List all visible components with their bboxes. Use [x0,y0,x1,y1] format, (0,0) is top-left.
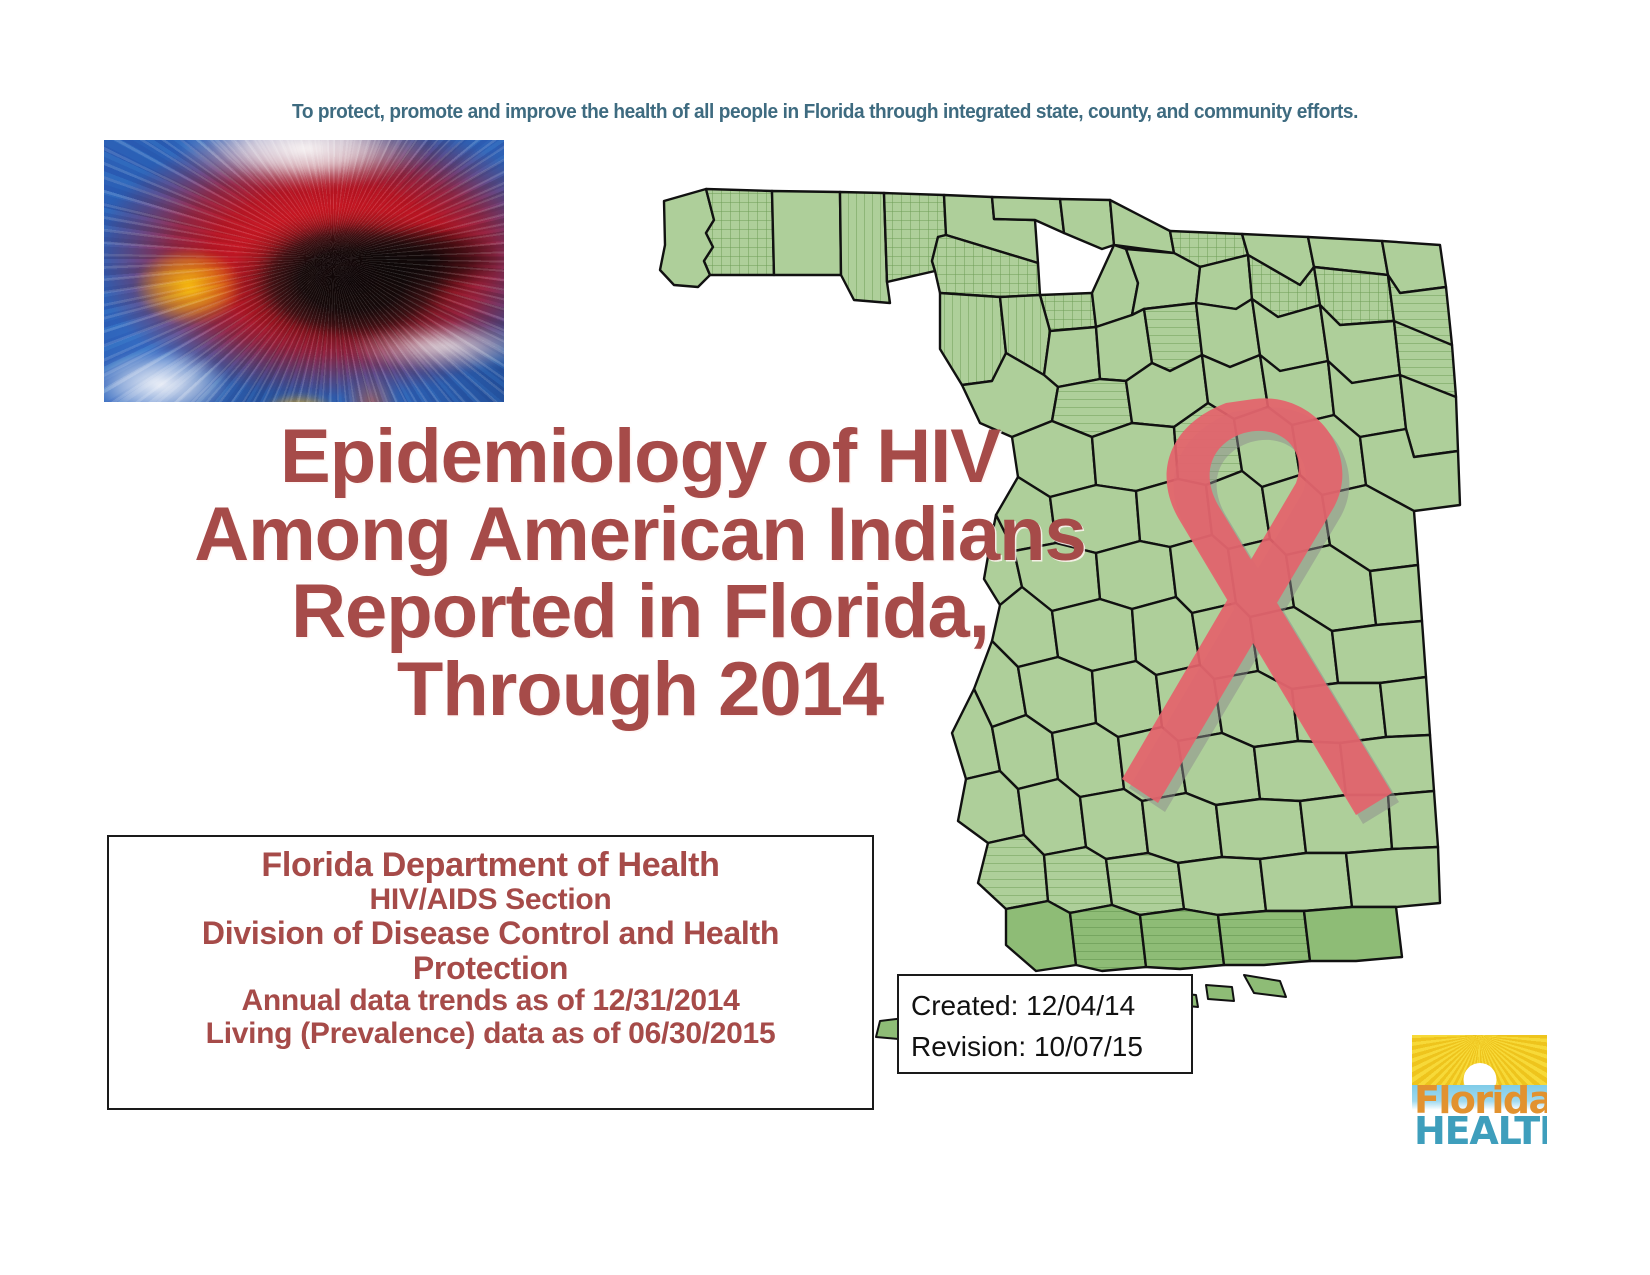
mission-statement: To protect, promote and improve the heal… [58,100,1593,124]
attribution-department: Florida Department of Health [109,847,872,884]
attribution-prevalence-data-date: Living (Prevalence) data as of 06/30/201… [109,1018,872,1050]
title-line-2: Among American Indians [120,496,1160,574]
native-american-regalia-feathers-photo [104,140,504,402]
logo-water-band: Florida HEALTH [1412,1085,1547,1158]
slide-canvas: To protect, promote and improve the heal… [0,0,1650,1275]
attribution-annual-data-date: Annual data trends as of 12/31/2014 [109,985,872,1017]
attribution-box: Florida Department of Health HIV/AIDS Se… [107,835,874,1110]
attribution-division-line2: Protection [109,951,872,986]
photo-layer-motion-streaks-highlight [104,140,504,402]
created-revision-box: Created: 12/04/14 Revision: 10/07/15 [897,974,1193,1074]
logo-sunburst-icon [1412,1035,1547,1085]
created-date: Created: 12/04/14 [911,986,1191,1027]
page-title: Epidemiology of HIV Among American India… [120,418,1160,728]
attribution-division-line1: Division of Disease Control and Health [109,916,872,951]
logo-word-health: HEALTH [1414,1112,1547,1150]
florida-health-logo: Florida HEALTH [1412,1035,1547,1158]
title-line-1: Epidemiology of HIV [120,418,1160,496]
title-line-3: Reported in Florida, [120,573,1160,651]
title-line-4: Through 2014 [120,651,1160,729]
revision-date: Revision: 10/07/15 [911,1027,1191,1068]
attribution-section: HIV/AIDS Section [109,884,872,916]
